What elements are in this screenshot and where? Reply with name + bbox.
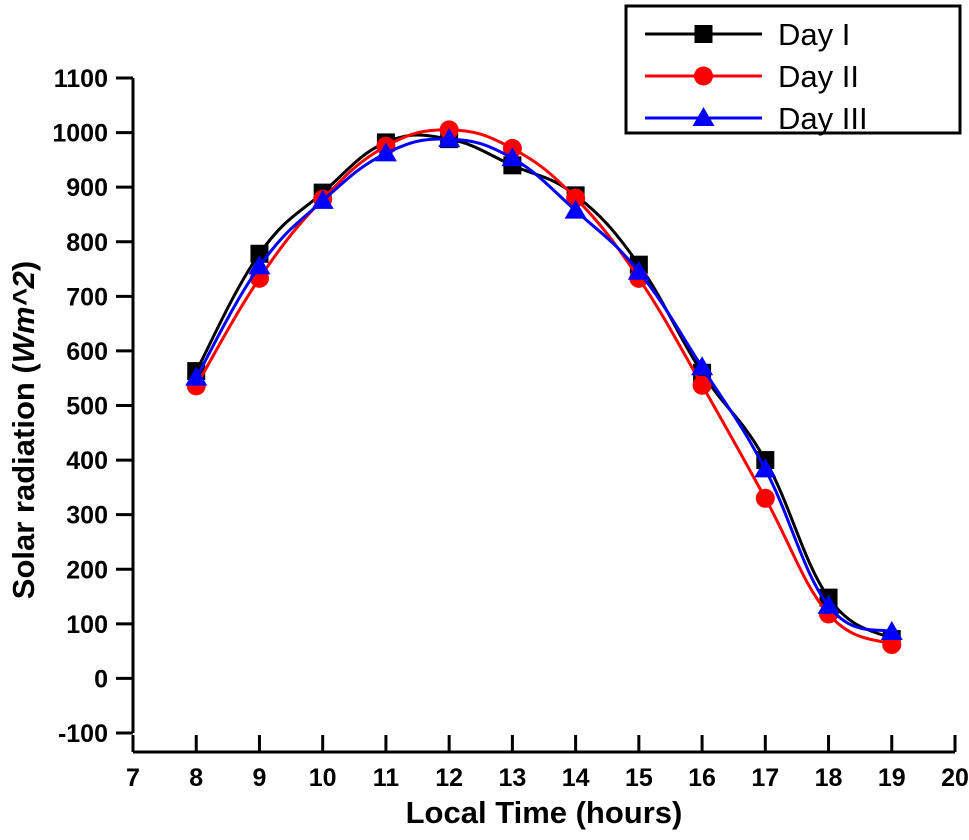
x-axis-tick-labels: 7891011121314151617181920 [126, 764, 969, 792]
y-tick-label: 900 [66, 174, 108, 202]
x-tick-label: 10 [309, 764, 337, 792]
x-tick-label: 12 [435, 764, 463, 792]
legend-marker-square-icon [695, 25, 713, 43]
y-tick-label: 200 [66, 556, 108, 584]
y-tick-label: 700 [66, 283, 108, 311]
legend-label: Day I [778, 17, 850, 52]
x-tick-label: 8 [189, 764, 203, 792]
legend-items: Day IDay IIDay III [645, 17, 868, 136]
y-tick-label: 0 [94, 665, 108, 693]
svg-text:Solar radiation (Wm^2): Solar radiation (Wm^2) [6, 261, 41, 599]
data-series-layer [185, 120, 903, 654]
chart-canvas: -100010020030040050060070080090010001100… [0, 0, 969, 840]
y-axis-ticks [116, 78, 133, 733]
legend: Day IDay IIDay III [626, 6, 960, 136]
x-tick-label: 20 [941, 764, 969, 792]
y-tick-label: 600 [66, 338, 108, 366]
axis-lines [133, 78, 955, 752]
series-line [196, 139, 892, 632]
legend-label: Day II [778, 59, 859, 94]
x-tick-label: 18 [815, 764, 843, 792]
series-day-ii [187, 120, 902, 654]
y-tick-label: 400 [66, 447, 108, 475]
x-tick-label: 7 [126, 764, 140, 792]
x-tick-label: 11 [373, 764, 400, 792]
y-tick-label: 1000 [52, 120, 108, 148]
legend-marker-circle-icon [694, 67, 713, 86]
y-axis-title: Solar radiation (Wm^2) [6, 261, 41, 599]
series-day-iii [185, 128, 903, 640]
x-tick-label: 15 [625, 764, 653, 792]
x-tick-label: 19 [878, 764, 906, 792]
y-tick-label: 1100 [54, 65, 108, 93]
legend-label: Day III [778, 101, 868, 136]
x-tick-label: 16 [688, 764, 716, 792]
y-tick-label: 500 [66, 393, 108, 421]
x-axis-ticks [133, 735, 955, 752]
x-tick-label: 13 [498, 764, 526, 792]
series-line [196, 135, 892, 639]
data-point [756, 489, 775, 508]
y-tick-label: 300 [66, 502, 108, 530]
x-tick-label: 9 [253, 764, 267, 792]
series-line [196, 130, 892, 645]
y-tick-label: 800 [66, 229, 108, 257]
chart-figure: -100010020030040050060070080090010001100… [0, 0, 969, 840]
y-tick-label: 100 [66, 611, 108, 639]
x-tick-label: 17 [751, 764, 779, 792]
x-tick-label: 14 [562, 764, 590, 792]
y-tick-label: -100 [58, 720, 108, 748]
y-axis-tick-labels: -100010020030040050060070080090010001100 [52, 65, 108, 748]
x-axis-title: Local Time (hours) [406, 795, 683, 830]
series-day-i [187, 130, 901, 648]
